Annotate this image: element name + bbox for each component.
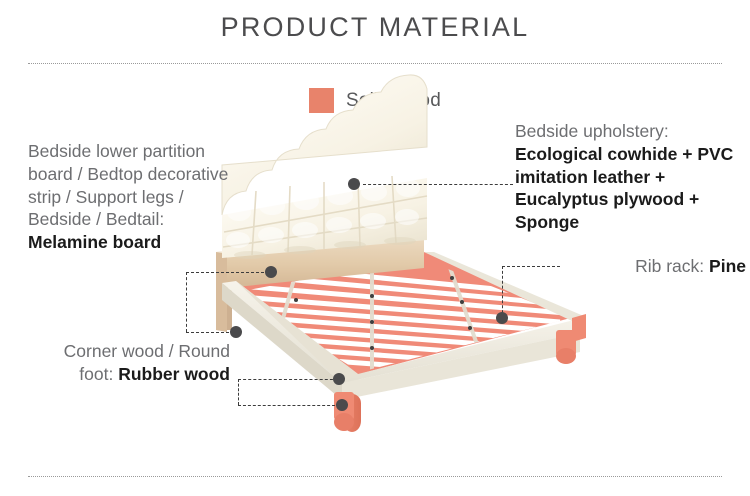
- callout-upholstery-lead: Bedside upholstery:: [515, 121, 669, 141]
- callout-melamine: Bedside lower partition board / Bedtop d…: [28, 140, 243, 254]
- callout-melamine-lead: Bedside lower partition board / Bedtop d…: [28, 141, 228, 229]
- marker-upholstery: [348, 178, 360, 190]
- leader-rubber-v: [238, 379, 239, 405]
- callout-ribrack-material: Pine: [709, 256, 746, 276]
- callout-rubberwood: Corner wood / Round foot: Rubber wood: [40, 340, 230, 386]
- callout-ribrack: Rib rack: Pine: [530, 255, 746, 278]
- marker-melamine-rail: [230, 326, 242, 338]
- marker-rubber-foot: [336, 399, 348, 411]
- marker-ribrack: [496, 312, 508, 324]
- leader-melamine-h2: [186, 332, 234, 333]
- tufted-headboard: [222, 75, 427, 259]
- leader-melamine-h1: [186, 272, 264, 273]
- callout-upholstery: Bedside upholstery: Ecological cowhide +…: [515, 120, 747, 234]
- leader-upholstery: [363, 184, 513, 185]
- callout-rubberwood-material: Rubber wood: [118, 364, 230, 384]
- leader-ribrack-v: [502, 266, 503, 318]
- marker-melamine-headboard: [265, 266, 277, 278]
- leader-melamine-v: [186, 272, 187, 332]
- callout-ribrack-lead: Rib rack:: [635, 256, 704, 276]
- callout-upholstery-material: Ecological cowhide + PVC imitation leath…: [515, 144, 733, 232]
- marker-rubber-corner: [333, 373, 345, 385]
- poster-canvas: PRODUCT MATERIAL Solid wood: [0, 0, 750, 496]
- leader-rubber-h1: [238, 379, 338, 380]
- callout-melamine-material: Melamine board: [28, 232, 161, 252]
- leader-rubber-h2: [238, 405, 340, 406]
